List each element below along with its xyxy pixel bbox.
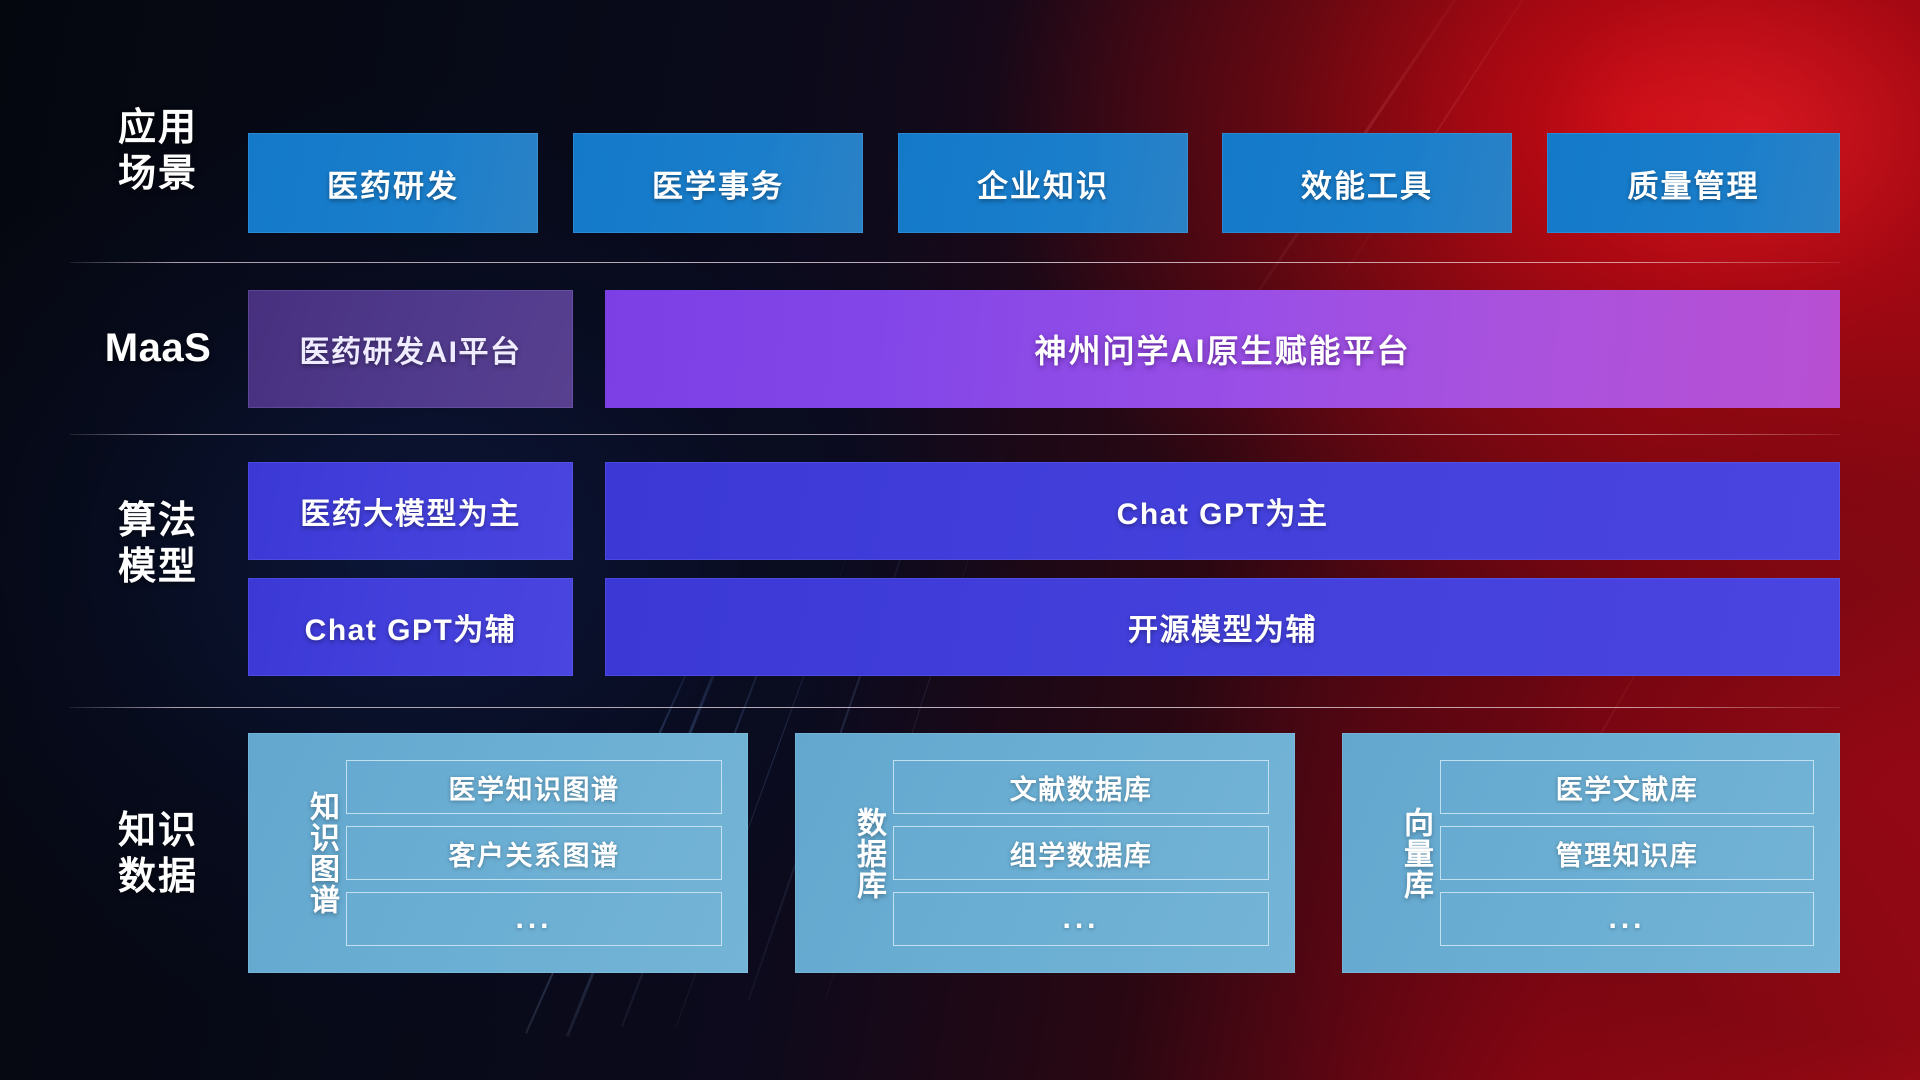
architecture-diagram-canvas: 应用 场景 医药研发 医学事务 企业知识 效能工具 质量管理 MaaS 医药研发… xyxy=(0,0,1920,1080)
row-label-knowledge-line1: 知识 xyxy=(68,808,248,854)
knowledge-item[interactable]: 医学知识图谱 xyxy=(346,760,722,814)
scene-box-efficiency-tools[interactable]: 效能工具 xyxy=(1222,133,1512,233)
scene-box-drug-rd[interactable]: 医药研发 xyxy=(248,133,538,233)
algo-box-opensource-model-secondary[interactable]: 开源模型为辅 xyxy=(605,578,1840,676)
knowledge-item[interactable]: 文献数据库 xyxy=(893,760,1269,814)
knowledge-item[interactable]: 医学文献库 xyxy=(1440,760,1814,814)
algo-box-pharma-large-model-primary[interactable]: 医药大模型为主 xyxy=(248,462,573,560)
knowledge-item-more[interactable]: ... xyxy=(893,892,1269,946)
algo-box-chatgpt-primary[interactable]: Chat GPT为主 xyxy=(605,462,1840,560)
knowledge-item[interactable]: 管理知识库 xyxy=(1440,826,1814,880)
scene-box-label: 效能工具 xyxy=(1301,161,1433,206)
knowledge-group-database[interactable]: 数据库 文献数据库 组学数据库 ... xyxy=(795,733,1295,973)
scene-box-quality-management[interactable]: 质量管理 xyxy=(1547,133,1840,233)
row-label-application-line1: 应用 xyxy=(68,105,248,151)
divider-after-application xyxy=(70,262,1840,263)
row-label-algorithm: 算法 模型 xyxy=(68,498,248,590)
row-label-algorithm-line2: 模型 xyxy=(68,544,248,590)
row-label-application: 应用 场景 xyxy=(68,105,248,197)
algo-box-label: 医药大模型为主 xyxy=(300,489,521,533)
knowledge-group-knowledge-graph[interactable]: 知识图谱 医学知识图谱 客户关系图谱 ... xyxy=(248,733,748,973)
scene-box-label: 医学事务 xyxy=(652,161,784,206)
knowledge-group-vertical-label: 知识图谱 xyxy=(248,791,340,915)
row-label-algorithm-line1: 算法 xyxy=(68,498,248,544)
maas-box-label: 医药研发AI平台 xyxy=(300,327,522,371)
divider-after-maas xyxy=(70,434,1840,435)
knowledge-item-more[interactable]: ... xyxy=(346,892,722,946)
scene-box-enterprise-knowledge[interactable]: 企业知识 xyxy=(898,133,1188,233)
knowledge-group-vertical-label: 向量库 xyxy=(1342,807,1434,900)
algo-box-label: Chat GPT为主 xyxy=(1117,489,1329,533)
maas-box-drug-rd-ai-platform[interactable]: 医药研发AI平台 xyxy=(248,290,573,408)
knowledge-group-vector-store[interactable]: 向量库 医学文献库 管理知识库 ... xyxy=(1342,733,1840,973)
knowledge-item-more[interactable]: ... xyxy=(1440,892,1814,946)
knowledge-item[interactable]: 客户关系图谱 xyxy=(346,826,722,880)
knowledge-group-item-list: 医学知识图谱 客户关系图谱 ... xyxy=(340,760,748,946)
scene-box-medical-affairs[interactable]: 医学事务 xyxy=(573,133,863,233)
maas-bar-label: 神州问学AI原生赋能平台 xyxy=(1034,326,1410,372)
algo-box-label: Chat GPT为辅 xyxy=(305,605,517,649)
row-label-knowledge-line2: 数据 xyxy=(68,854,248,900)
row-label-knowledge: 知识 数据 xyxy=(68,808,248,900)
scene-box-label: 医药研发 xyxy=(327,161,459,206)
row-label-maas-text: MaaS xyxy=(68,325,248,371)
divider-after-algorithm xyxy=(70,707,1840,708)
maas-bar-shenzhou-wenxue-platform[interactable]: 神州问学AI原生赋能平台 xyxy=(605,290,1840,408)
algo-box-label: 开源模型为辅 xyxy=(1128,605,1317,649)
row-label-maas: MaaS xyxy=(68,325,248,371)
knowledge-group-item-list: 医学文献库 管理知识库 ... xyxy=(1434,760,1840,946)
knowledge-group-vertical-label: 数据库 xyxy=(795,807,887,900)
knowledge-item[interactable]: 组学数据库 xyxy=(893,826,1269,880)
row-label-application-line2: 场景 xyxy=(68,151,248,197)
scene-box-label: 质量管理 xyxy=(1628,161,1760,206)
algo-box-chatgpt-secondary[interactable]: Chat GPT为辅 xyxy=(248,578,573,676)
scene-box-label: 企业知识 xyxy=(977,161,1109,206)
knowledge-group-item-list: 文献数据库 组学数据库 ... xyxy=(887,760,1295,946)
